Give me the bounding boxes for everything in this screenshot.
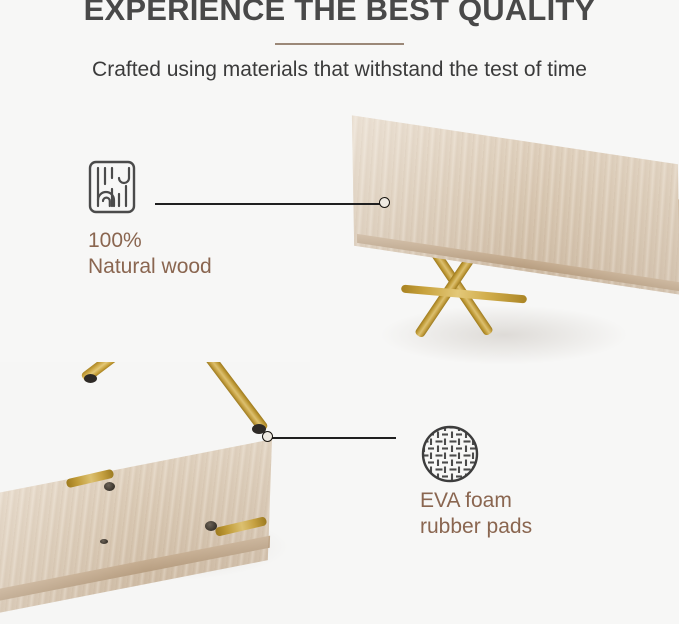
foot-screw-right <box>205 521 217 531</box>
title-divider <box>275 43 404 45</box>
callout-line-natural-wood <box>155 203 385 205</box>
callout-marker-natural-wood <box>379 197 390 208</box>
page-subtitle: Crafted using materials that withstand t… <box>0 58 679 82</box>
foot-screw-left <box>104 482 115 491</box>
gold-leg-upper-left <box>80 362 229 383</box>
wood-grain-icon <box>88 160 136 214</box>
feature-label-eva-foam: EVA foam rubber pads <box>420 488 532 540</box>
feature-line-2: Natural wood <box>88 254 212 280</box>
feature-line-2: rubber pads <box>420 514 532 540</box>
gold-leg-upper-right <box>153 362 269 433</box>
page-title: EXPERIENCE THE BEST QUALITY <box>0 0 679 28</box>
product-photo-top <box>339 110 679 378</box>
callout-line-eva-foam <box>272 437 396 439</box>
feature-line-1: 100% <box>88 228 212 254</box>
woven-mesh-circle-icon <box>420 424 480 484</box>
rubber-pad-top-left <box>84 374 97 383</box>
infographic-canvas: EXPERIENCE THE BEST QUALITY Crafted usin… <box>0 0 679 624</box>
board-screw-hole <box>100 539 108 544</box>
feature-label-natural-wood: 100% Natural wood <box>88 228 212 280</box>
product-photo-bottom <box>0 362 310 624</box>
tabletop-highlight <box>352 115 679 294</box>
callout-marker-eva-foam <box>262 431 273 442</box>
feature-line-1: EVA foam <box>420 488 532 514</box>
